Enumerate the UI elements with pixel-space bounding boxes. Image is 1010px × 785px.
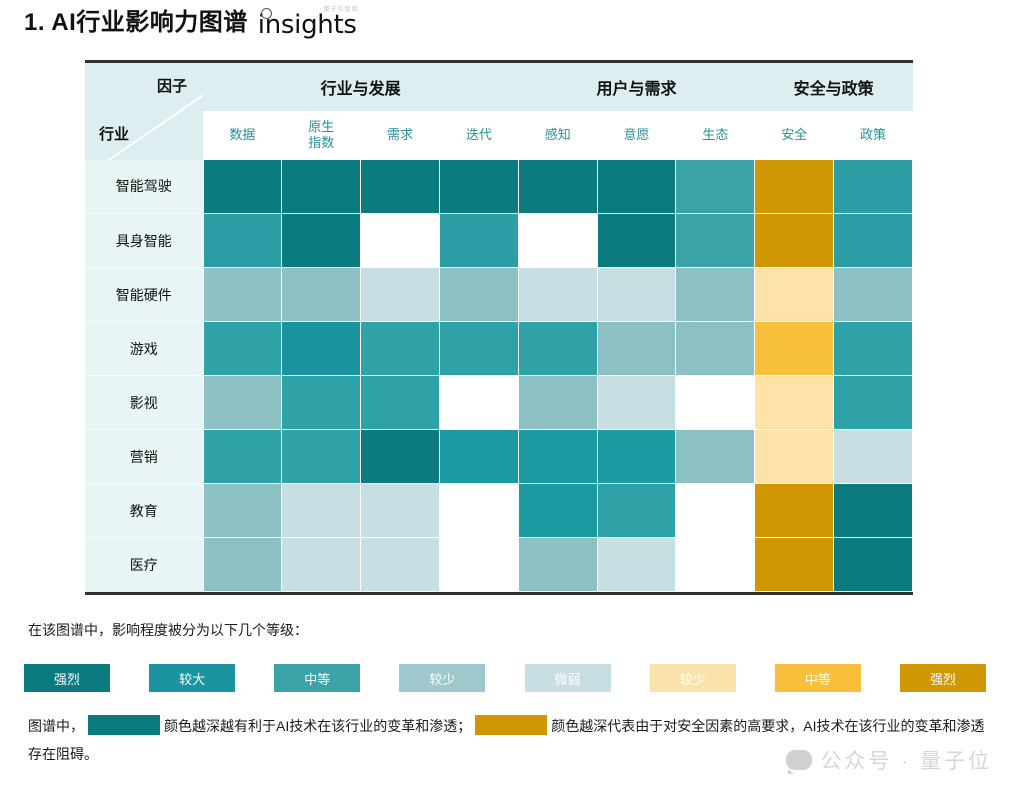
heatmap-cell: [834, 376, 913, 430]
title-bar: 1. AI行业影响力图谱 量子位智库 insights: [24, 6, 357, 40]
heatmap-cell: [676, 322, 755, 376]
heatmap-cell: [755, 160, 834, 214]
corner-industry-label: 行业: [99, 123, 129, 144]
logo-circle-icon: [261, 8, 272, 19]
heatmap-cell: [834, 160, 913, 214]
matrix-body: 智能驾驶具身智能智能硬件游戏影视营销教育医疗: [85, 160, 913, 592]
heatmap-cell: [439, 268, 518, 322]
legend-chip: 较少: [399, 664, 485, 692]
heatmap-cell: [361, 160, 440, 214]
column-header: 意愿: [597, 111, 676, 160]
matrix-row: 医疗: [85, 538, 913, 592]
heatmap-cell: [518, 322, 597, 376]
legend-chip: 较大: [149, 664, 235, 692]
heatmap-cell: [834, 214, 913, 268]
row-label: 智能硬件: [85, 268, 203, 322]
watermark: 公众号 · 量子位: [786, 745, 992, 775]
matrix-row: 具身智能: [85, 214, 913, 268]
column-header: 迭代: [439, 111, 518, 160]
heatmap-cell: [755, 430, 834, 484]
corner-cell: 因子 行业: [85, 63, 203, 160]
watermark-text: 公众号 · 量子位: [820, 745, 992, 775]
legend-chip: 微弱: [525, 664, 611, 692]
heatmap-cell: [361, 430, 440, 484]
footnote-gold-swatch: [475, 715, 547, 735]
heatmap-cell: [439, 538, 518, 592]
heatmap-cell: [676, 538, 755, 592]
heatmap-cell: [676, 430, 755, 484]
legend-chip: 较少: [650, 664, 736, 692]
matrix-row: 营销: [85, 430, 913, 484]
row-label: 具身智能: [85, 214, 203, 268]
row-label: 影视: [85, 376, 203, 430]
heatmap-cell: [755, 268, 834, 322]
legend-chip: 中等: [775, 664, 861, 692]
row-label: 游戏: [85, 322, 203, 376]
heatmap-cell: [203, 538, 282, 592]
heatmap-cell: [282, 484, 361, 538]
heatmap-cell: [439, 484, 518, 538]
insights-logo: 量子位智库 insights: [258, 6, 357, 40]
chat-bubble-icon: [786, 750, 812, 770]
column-header-row: 数据原生指数需求迭代感知意愿生态安全政策: [85, 111, 913, 160]
heatmap-cell: [361, 268, 440, 322]
heatmap-cell: [518, 538, 597, 592]
heatmap-cell: [282, 160, 361, 214]
heatmap-cell: [518, 376, 597, 430]
heatmap-cell: [597, 376, 676, 430]
heatmap-cell: [361, 376, 440, 430]
heatmap-cell: [597, 268, 676, 322]
heatmap-cell: [203, 430, 282, 484]
column-header: 需求: [361, 111, 440, 160]
heatmap-cell: [518, 160, 597, 214]
heatmap-cell: [755, 214, 834, 268]
heatmap-cell: [518, 268, 597, 322]
column-header: 数据: [203, 111, 282, 160]
legend-chip: 中等: [274, 664, 360, 692]
matrix-row: 教育: [85, 484, 913, 538]
heatmap-cell: [597, 538, 676, 592]
heatmap-cell: [676, 376, 755, 430]
matrix-head: 因子 行业 行业与发展用户与需求安全与政策 数据原生指数需求迭代感知意愿生态安全…: [85, 63, 913, 160]
heatmap-cell: [597, 214, 676, 268]
heatmap-cell: [597, 484, 676, 538]
footnote-teal-swatch: [88, 715, 160, 735]
column-header: 政策: [834, 111, 913, 160]
heatmap-cell: [439, 160, 518, 214]
heatmap-cell: [203, 160, 282, 214]
heatmap-cell: [361, 214, 440, 268]
column-header: 安全: [755, 111, 834, 160]
heatmap-cell: [203, 484, 282, 538]
heatmap-cell: [282, 376, 361, 430]
column-group-header: 行业与发展: [203, 63, 518, 111]
heatmap-cell: [834, 322, 913, 376]
heatmap-cell: [676, 214, 755, 268]
heatmap-cell: [282, 322, 361, 376]
row-label: 教育: [85, 484, 203, 538]
heatmap-cell: [361, 484, 440, 538]
footnote-part3: 颜色越深代表由于对安全因素的高要求，: [551, 718, 803, 734]
footnote-part1: 图谱中，: [28, 718, 84, 734]
heatmap-cell: [834, 538, 913, 592]
column-group-header: 安全与政策: [755, 63, 913, 111]
column-header: 生态: [676, 111, 755, 160]
matrix-row: 智能驾驶: [85, 160, 913, 214]
row-label: 智能驾驶: [85, 160, 203, 214]
heatmap-cell: [282, 268, 361, 322]
heatmap-cell: [518, 484, 597, 538]
heatmap-cell: [597, 430, 676, 484]
column-header: 感知: [518, 111, 597, 160]
row-label: 营销: [85, 430, 203, 484]
matrix-row: 智能硬件: [85, 268, 913, 322]
row-label: 医疗: [85, 538, 203, 592]
matrix-row: 游戏: [85, 322, 913, 376]
matrix-row: 影视: [85, 376, 913, 430]
logo-subtitle: 量子位智库: [324, 4, 359, 13]
heatmap-cell: [518, 430, 597, 484]
heatmap-cell: [597, 160, 676, 214]
heatmap-cell: [203, 214, 282, 268]
heatmap-cell: [439, 322, 518, 376]
heatmap-cell: [755, 322, 834, 376]
legend-row: 强烈较大中等较少微弱较少中等强烈: [24, 664, 986, 692]
heatmap-cell: [676, 268, 755, 322]
heatmap-cell: [203, 322, 282, 376]
heatmap-cell: [439, 214, 518, 268]
heatmap-cell: [282, 538, 361, 592]
heatmap-cell: [597, 322, 676, 376]
heatmap-cell: [439, 376, 518, 430]
heatmap-cell: [834, 430, 913, 484]
page-title: 1. AI行业影响力图谱: [24, 6, 248, 40]
heatmap-cell: [282, 214, 361, 268]
heatmap-cell: [282, 430, 361, 484]
heatmap-cell: [755, 376, 834, 430]
impact-matrix: 因子 行业 行业与发展用户与需求安全与政策 数据原生指数需求迭代感知意愿生态安全…: [85, 60, 913, 595]
heatmap-cell: [518, 214, 597, 268]
heatmap-cell: [203, 376, 282, 430]
legend-chip: 强烈: [24, 664, 110, 692]
heatmap-cell: [755, 538, 834, 592]
group-header-row: 因子 行业 行业与发展用户与需求安全与政策: [85, 63, 913, 111]
legend-intro: 在该图谱中，影响程度被分为以下几个等级：: [28, 620, 308, 640]
heatmap-cell: [361, 538, 440, 592]
column-header: 原生指数: [282, 111, 361, 160]
corner-factor-label: 因子: [157, 75, 187, 96]
heatmap-cell: [361, 322, 440, 376]
heatmap-cell: [834, 268, 913, 322]
legend-chip: 强烈: [900, 664, 986, 692]
column-group-header: 用户与需求: [518, 63, 754, 111]
logo-wordmark: insights: [258, 10, 357, 40]
heatmap-cell: [439, 430, 518, 484]
footnote-part2: 颜色越深越有利于AI技术在该行业的变革和渗透；: [164, 718, 471, 734]
heatmap-cell: [676, 160, 755, 214]
heatmap-cell: [676, 484, 755, 538]
heatmap-cell: [755, 484, 834, 538]
matrix-table: 因子 行业 行业与发展用户与需求安全与政策 数据原生指数需求迭代感知意愿生态安全…: [85, 63, 913, 592]
heatmap-cell: [834, 484, 913, 538]
heatmap-cell: [203, 268, 282, 322]
